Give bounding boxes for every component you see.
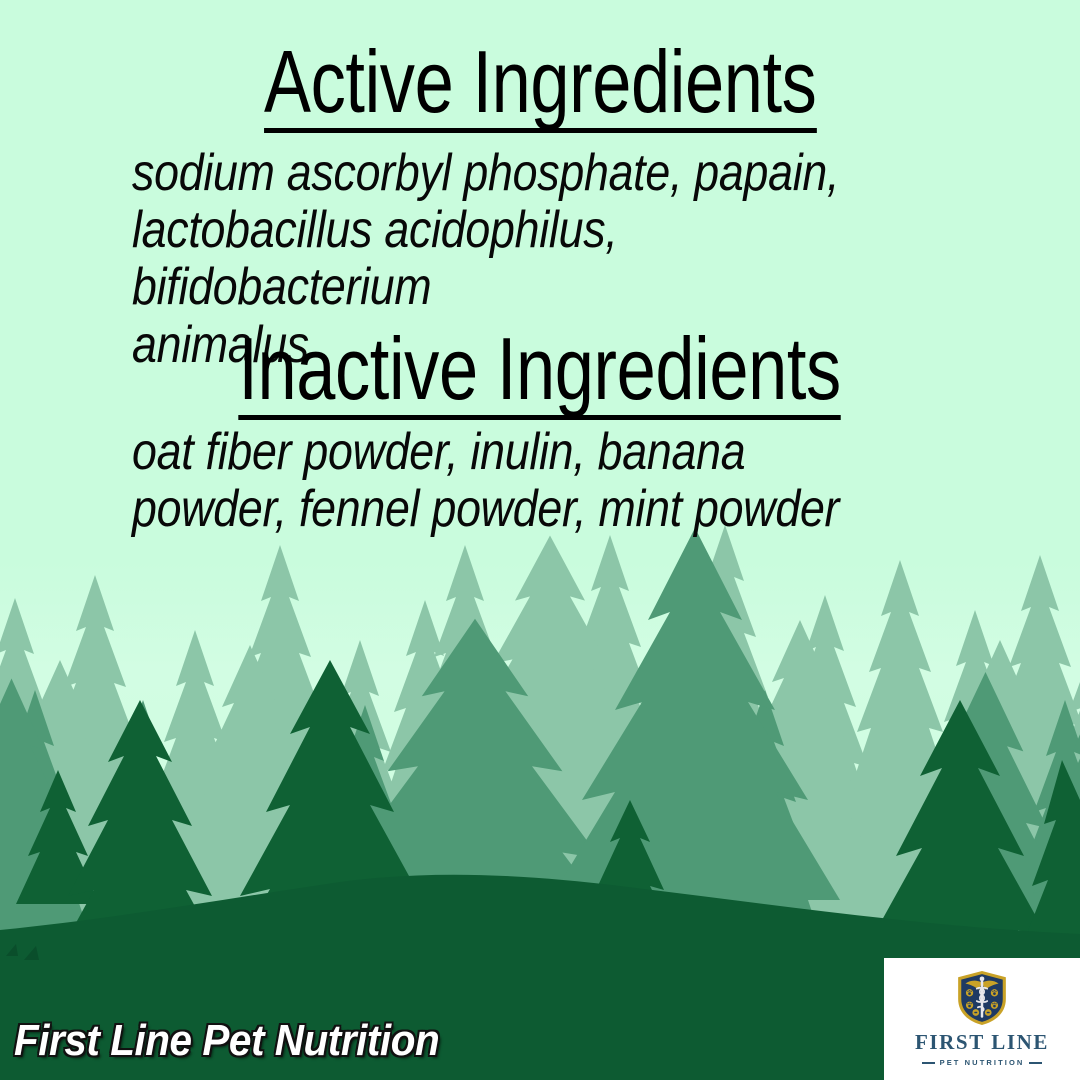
- inactive-ingredients-list: oat fiber powder, inulin, banana powder,…: [132, 424, 1032, 538]
- logo-wordmark: FIRST LINE: [915, 1032, 1049, 1053]
- inactive-line-2: powder, fennel powder, mint powder: [132, 481, 906, 538]
- tagline-dash-right: [1029, 1062, 1042, 1064]
- inactive-line-1: oat fiber powder, inulin, banana: [132, 424, 906, 481]
- ingredients-poster: Active Ingredients sodium ascorbyl phosp…: [0, 0, 1080, 1080]
- tagline-dash-left: [922, 1062, 935, 1064]
- logo-tagline-row: PET NUTRITION: [922, 1058, 1043, 1067]
- inactive-heading-text: Inactive Ingredients: [239, 325, 842, 420]
- active-heading-text: Active Ingredients: [264, 38, 816, 133]
- active-line-2: lactobacillus acidophilus, bifidobacteri…: [132, 202, 906, 316]
- brand-logo-card: FIRST LINE PET NUTRITION: [884, 958, 1080, 1080]
- shield-caduceus-icon: [955, 970, 1009, 1026]
- footer-brand-text: First Line Pet Nutrition: [14, 1016, 439, 1066]
- logo-tagline: PET NUTRITION: [940, 1058, 1025, 1067]
- inactive-ingredients-heading: Inactive Ingredients: [0, 325, 1080, 420]
- active-ingredients-heading: Active Ingredients: [0, 38, 1080, 133]
- active-line-1: sodium ascorbyl phosphate, papain,: [132, 145, 906, 202]
